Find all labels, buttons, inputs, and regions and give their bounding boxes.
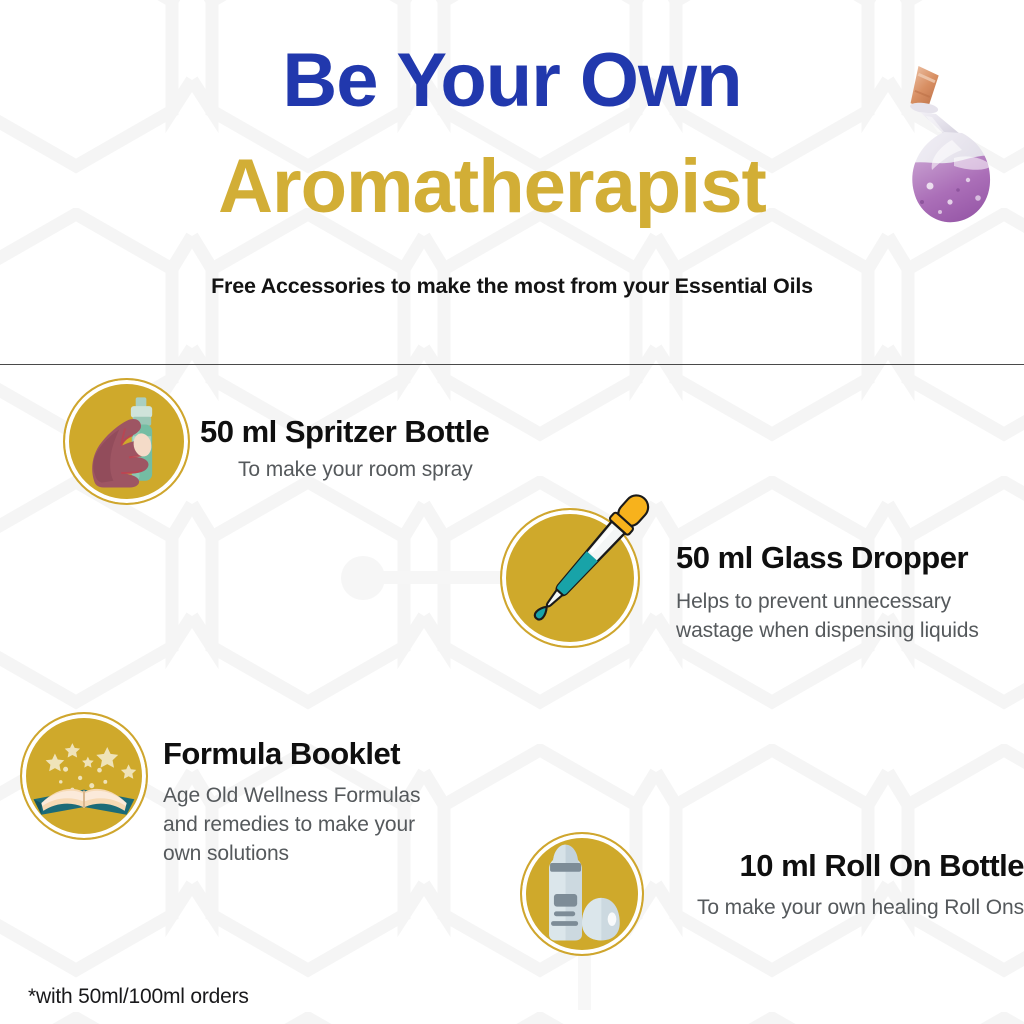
feature-description-line1: Helps to prevent unnecessary (676, 588, 1024, 617)
page-subtitle: Free Accessories to make the most from y… (0, 274, 1024, 299)
feature-description-line2: and remedies to make your (163, 811, 513, 840)
potion-bottle-icon (892, 62, 1002, 232)
feature-text-spritzer: 50 ml Spritzer Bottle To make your room … (200, 414, 640, 485)
feature-description-line1: Age Old Wellness Formulas (163, 782, 513, 811)
feature-heading: 10 ml Roll On Bottle (660, 848, 1024, 884)
header-block: Be Your Own Aromatherapist Free Accessor… (0, 0, 1024, 365)
feature-text-booklet: Formula Booklet Age Old Wellness Formula… (163, 736, 513, 869)
formula-booklet-icon (20, 712, 148, 840)
feature-item-booklet: Formula Booklet Age Old Wellness Formula… (0, 700, 520, 880)
glass-dropper-icon (500, 508, 640, 648)
feature-description-line3: own solutions (163, 840, 513, 869)
feature-text-rollon: 10 ml Roll On Bottle To make your own he… (660, 848, 1024, 923)
feature-item-rollon: 10 ml Roll On Bottle To make your own he… (500, 820, 1024, 980)
feature-text-dropper: 50 ml Glass Dropper Helps to prevent unn… (676, 540, 1024, 646)
feature-heading: Formula Booklet (163, 736, 513, 772)
feature-item-dropper: 50 ml Glass Dropper Helps to prevent unn… (430, 480, 1024, 680)
page-title-line1: Be Your Own (0, 42, 1024, 120)
feature-heading: 50 ml Spritzer Bottle (200, 414, 640, 450)
feature-description: To make your own healing Roll Ons (660, 894, 1024, 923)
feature-description-line2: wastage when dispensing liquids (676, 617, 1024, 646)
page-title-line2: Aromatherapist (0, 148, 1024, 226)
spritzer-bottle-in-hand-icon (63, 378, 190, 505)
header-divider (0, 364, 1024, 365)
roll-on-bottle-icon (520, 832, 644, 956)
infographic-canvas: Be Your Own Aromatherapist Free Accessor… (0, 0, 1024, 1024)
feature-heading: 50 ml Glass Dropper (676, 540, 1024, 576)
footnote-text: *with 50ml/100ml orders (28, 985, 249, 1009)
